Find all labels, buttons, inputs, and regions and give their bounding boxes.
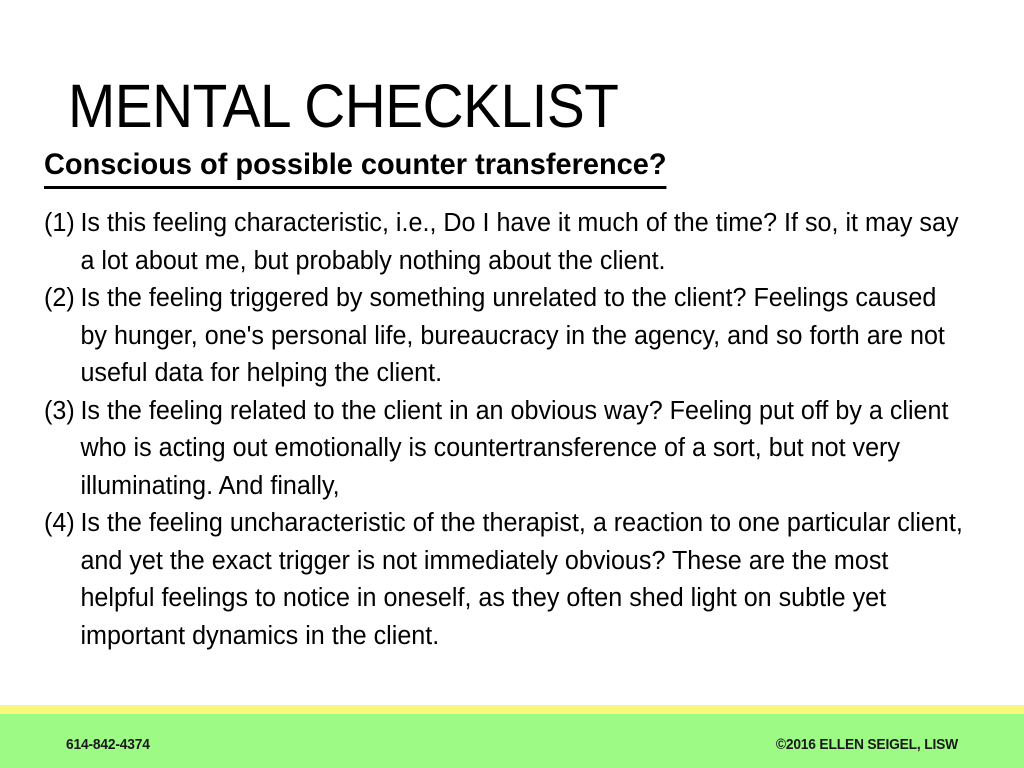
footer-copyright: ©2016 ELLEN SEIGEL, LISW bbox=[776, 736, 958, 754]
list-item: (1) Is this feeling characteristic, i.e.… bbox=[44, 205, 966, 280]
list-item-text: Is this feeling characteristic, i.e., Do… bbox=[80, 205, 966, 280]
list-item-marker: (3) bbox=[44, 393, 75, 431]
list-item-marker: (4) bbox=[44, 505, 75, 543]
list-item: (3) Is the feeling related to the client… bbox=[44, 393, 966, 506]
list-item-marker: (1) bbox=[44, 205, 75, 243]
checklist: (1) Is this feeling characteristic, i.e.… bbox=[44, 205, 980, 655]
list-item: (2) Is the feeling triggered by somethin… bbox=[44, 280, 966, 393]
presentation-slide: MENTAL CHECKLIST Conscious of possible c… bbox=[0, 0, 1024, 768]
list-item-marker: (2) bbox=[44, 280, 75, 318]
slide-subheading: Conscious of possible counter transferen… bbox=[44, 146, 667, 189]
list-item: (4) Is the feeling uncharacteristic of t… bbox=[44, 505, 966, 655]
list-item-text: Is the feeling triggered by something un… bbox=[80, 280, 966, 393]
list-item-text: Is the feeling related to the client in … bbox=[80, 393, 966, 506]
slide-body: Conscious of possible counter transferen… bbox=[44, 146, 980, 655]
list-item-text: Is the feeling uncharacteristic of the t… bbox=[80, 505, 966, 655]
footer-phone-number: 614-842-4374 bbox=[66, 736, 150, 754]
slide-title: MENTAL CHECKLIST bbox=[68, 73, 905, 139]
footer-accent-stripe bbox=[0, 705, 1024, 714]
